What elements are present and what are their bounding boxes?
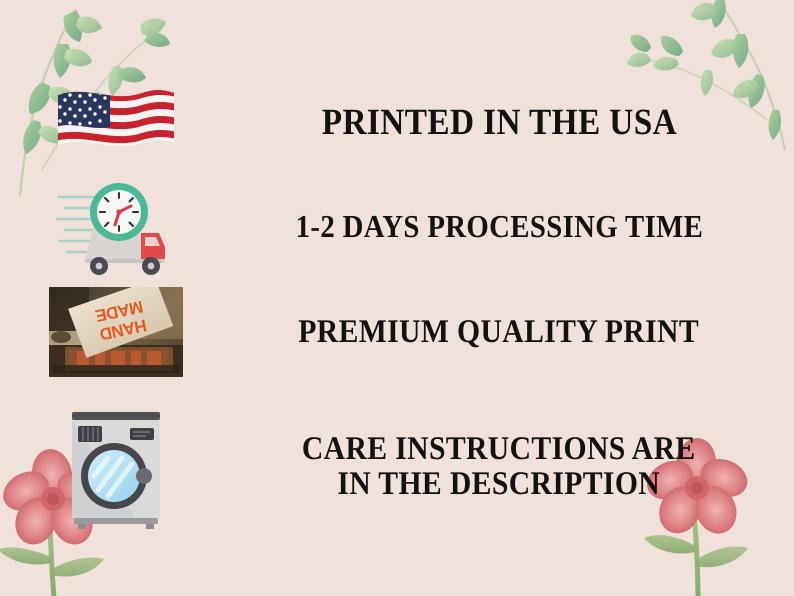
headline-care-instructions: CARE INSTRUCTIONS ARE IN THE DESCRIPTION [302,432,696,502]
clock [90,183,148,241]
headline-care-line-1: CARE INSTRUCTIONS ARE [302,432,696,467]
feature-row-care: CARE INSTRUCTIONS ARE IN THE DESCRIPTION [0,392,794,542]
feature-row-premium: HAND MADE PREMIUM QUALITY PRINT [0,282,794,382]
text-cell-care: CARE INSTRUCTIONS ARE IN THE DESCRIPTION [232,432,794,502]
washer-display [130,428,154,440]
screen-printing-photo: HAND MADE [49,287,183,377]
text-cell-premium: PREMIUM QUALITY PRINT [232,315,794,350]
headline-printed-in-the-usa: PRINTED IN THE USA [321,103,676,142]
feature-row-usa: PRINTED IN THE USA [0,75,794,171]
usa-flag-icon [52,81,180,165]
icon-cell-usa [0,81,232,165]
icon-cell-premium: HAND MADE [0,287,232,377]
washer-top-bar [72,412,160,420]
text-cell-usa: PRINTED IN THE USA [232,103,794,142]
info-graphic-canvas: PRINTED IN THE USA [0,0,794,596]
icon-cell-processing [0,175,232,279]
headline-processing-time: 1-2 DAYS PROCESSING TIME [295,210,703,244]
text-cell-processing: 1-2 DAYS PROCESSING TIME [232,210,794,244]
fast-delivery-truck-clock-icon [55,175,177,279]
headline-premium-quality-print: PREMIUM QUALITY PRINT [299,315,700,350]
washer-knob [136,468,152,484]
washing-machine-icon [64,404,168,530]
headline-care-line-2: IN THE DESCRIPTION [302,467,696,502]
feature-row-processing: 1-2 DAYS PROCESSING TIME [0,172,794,282]
icon-cell-care [0,404,232,530]
